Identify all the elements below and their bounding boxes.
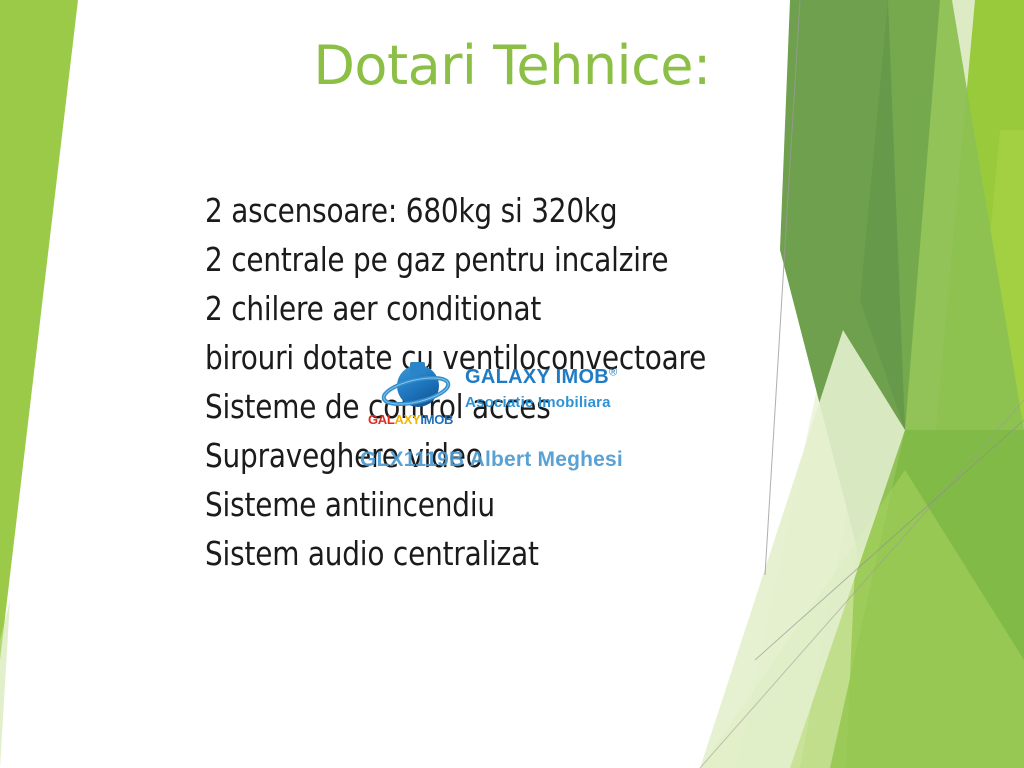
- right-green-sliver: [830, 430, 1024, 768]
- right-pale-wedge-2: [800, 0, 1024, 768]
- watermark-agent-id: GLX1119B Albert Meghesi: [360, 448, 623, 472]
- body-line-3: 2 chilere aer conditionat: [205, 284, 788, 333]
- left-green-wedge-tail: [0, 600, 10, 768]
- right-mid-wedge: [846, 0, 1024, 768]
- body-line-2: 2 centrale pe gaz pentru incalzire: [205, 235, 788, 284]
- mini-logo-part2: AXY: [395, 412, 421, 427]
- body-line-1: 2 ascensoare: 680kg si 320kg: [205, 186, 788, 235]
- presentation-slide: Dotari Tehnice: 2 ascensoare: 680kg si 3…: [0, 0, 1024, 768]
- watermark-mini-logo: GALAXYIMOB: [368, 412, 453, 427]
- mini-logo-part1: GAL: [368, 412, 395, 427]
- watermark-brand-text: GALAXY IMOB: [465, 366, 609, 388]
- mini-logo-part3: IMOB: [420, 412, 453, 427]
- slide-title: Dotari Tehnice:: [0, 36, 1024, 95]
- watermark-brand: GALAXY IMOB®: [465, 366, 617, 389]
- right-bright-band: [905, 0, 1024, 768]
- right-bright-band-2: [940, 130, 1024, 768]
- watermark-subtitle: Asociatie Imobiliara: [465, 394, 611, 411]
- body-line-8: Sistem audio centralizat: [205, 529, 788, 578]
- body-line-7: Sisteme antiincendiu: [205, 480, 788, 529]
- registered-mark-icon: ®: [609, 366, 617, 378]
- left-green-wedge: [0, 0, 78, 660]
- watermark-overlay: GALAXY IMOB® Asociatie Imobiliara GALAXY…: [360, 356, 690, 481]
